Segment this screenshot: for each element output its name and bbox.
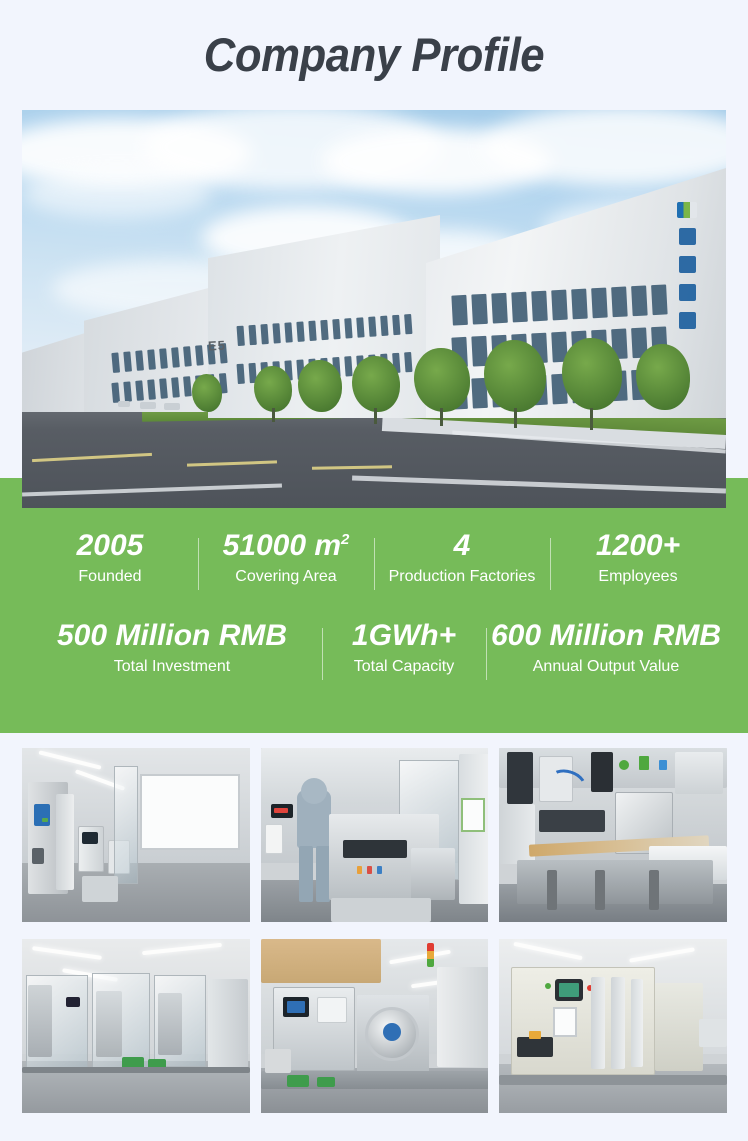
stat-label: Founded xyxy=(78,567,141,586)
tree-icon xyxy=(562,338,622,410)
stat-value: 51000 m2 xyxy=(223,530,350,562)
company-logo-icon xyxy=(677,202,697,218)
stat-value: 500 Million RMB xyxy=(57,620,287,652)
stat-value-unit-exponent: 2 xyxy=(341,531,349,548)
gallery-photo-5[interactable] xyxy=(261,939,489,1113)
signage-character xyxy=(679,256,696,273)
tree-trunk xyxy=(440,408,443,426)
stat-value: 4 xyxy=(454,530,471,562)
gallery-photo-1[interactable] xyxy=(22,748,250,922)
cloud-icon xyxy=(22,170,212,218)
stats-row-primary: 2005 Founded 51000 m2 Covering Area 4 Pr… xyxy=(22,530,726,602)
stat-total-investment: 500 Million RMB Total Investment xyxy=(22,620,322,676)
stat-production-factories: 4 Production Factories xyxy=(374,530,550,586)
stats-row-secondary: 500 Million RMB Total Investment 1GWh+ T… xyxy=(22,620,726,700)
page-title-container: Company Profile xyxy=(0,0,748,108)
facility-photo-grid xyxy=(22,748,727,1113)
tree-trunk xyxy=(590,408,593,430)
parked-car xyxy=(140,402,156,409)
stat-value: 1200+ xyxy=(596,530,680,562)
gallery-photo-6[interactable] xyxy=(499,939,727,1113)
stat-value: 600 Million RMB xyxy=(491,620,721,652)
page-title: Company Profile xyxy=(204,31,544,78)
parked-car xyxy=(118,401,130,407)
parked-car xyxy=(164,403,180,410)
stat-label: Total Investment xyxy=(114,657,231,676)
tree-icon xyxy=(484,340,546,412)
signage-character xyxy=(679,284,696,301)
stat-label: Production Factories xyxy=(389,567,536,586)
tree-icon xyxy=(636,344,690,410)
tree-icon xyxy=(414,348,470,412)
tree-icon xyxy=(352,356,400,412)
tree-trunk xyxy=(272,408,275,422)
stat-value: 1GWh+ xyxy=(352,620,456,652)
gallery-photo-2[interactable] xyxy=(261,748,489,922)
stat-label: Annual Output Value xyxy=(533,657,679,676)
stat-covering-area: 51000 m2 Covering Area xyxy=(198,530,374,586)
company-profile-page: Company Profile xyxy=(0,0,748,1141)
tree-trunk xyxy=(374,408,377,424)
tree-icon xyxy=(192,374,222,412)
signage-character xyxy=(679,228,696,245)
stat-value-text: 51000 m xyxy=(223,529,341,562)
gallery-photo-4[interactable] xyxy=(22,939,250,1113)
gallery-photo-3[interactable] xyxy=(499,748,727,922)
building-block-label: E5 xyxy=(208,338,227,354)
stat-total-capacity: 1GWh+ Total Capacity xyxy=(322,620,486,676)
stat-founded: 2005 Founded xyxy=(22,530,198,586)
stat-annual-output-value: 600 Million RMB Annual Output Value xyxy=(486,620,726,676)
stat-employees: 1200+ Employees xyxy=(550,530,726,586)
stat-label: Employees xyxy=(598,567,677,586)
signage-character xyxy=(679,312,696,329)
hero-image-company-building: E5 xyxy=(22,110,726,508)
stat-label: Total Capacity xyxy=(354,657,455,676)
tree-trunk xyxy=(514,408,517,428)
tree-icon xyxy=(254,366,292,412)
stat-label: Covering Area xyxy=(235,567,336,586)
tree-icon xyxy=(298,360,342,412)
stat-value: 2005 xyxy=(77,530,144,562)
